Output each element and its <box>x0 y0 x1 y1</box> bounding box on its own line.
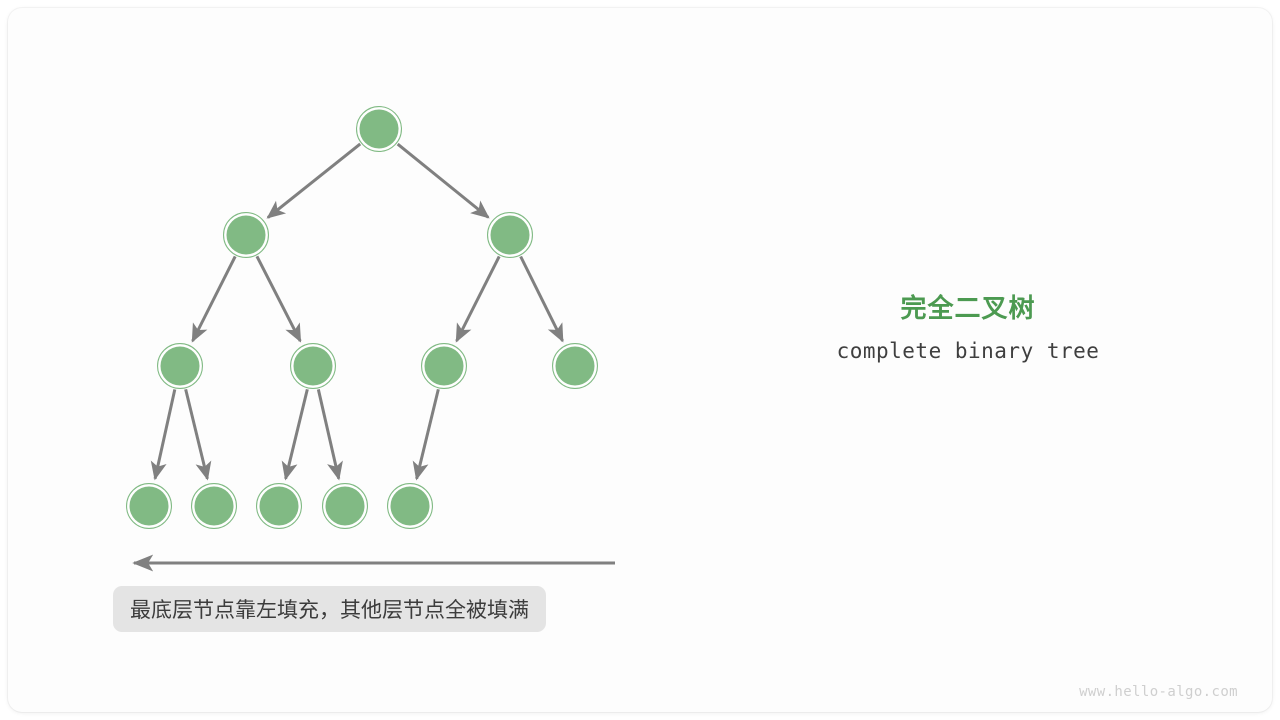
caption-badge: 最底层节点靠左填充，其他层节点全被填满 <box>113 586 546 632</box>
legend-title-block: 完全二叉树 complete binary tree <box>780 292 1156 363</box>
title-chinese: 完全二叉树 <box>780 292 1156 325</box>
title-english: complete binary tree <box>780 339 1156 363</box>
caption-label: 最底层节点靠左填充，其他层节点全被填满 <box>130 594 529 624</box>
site-watermark: www.hello-algo.com <box>1079 684 1238 700</box>
diagram-canvas: 完全二叉树 complete binary tree 最底层节点靠左填充，其他层… <box>0 0 1280 720</box>
